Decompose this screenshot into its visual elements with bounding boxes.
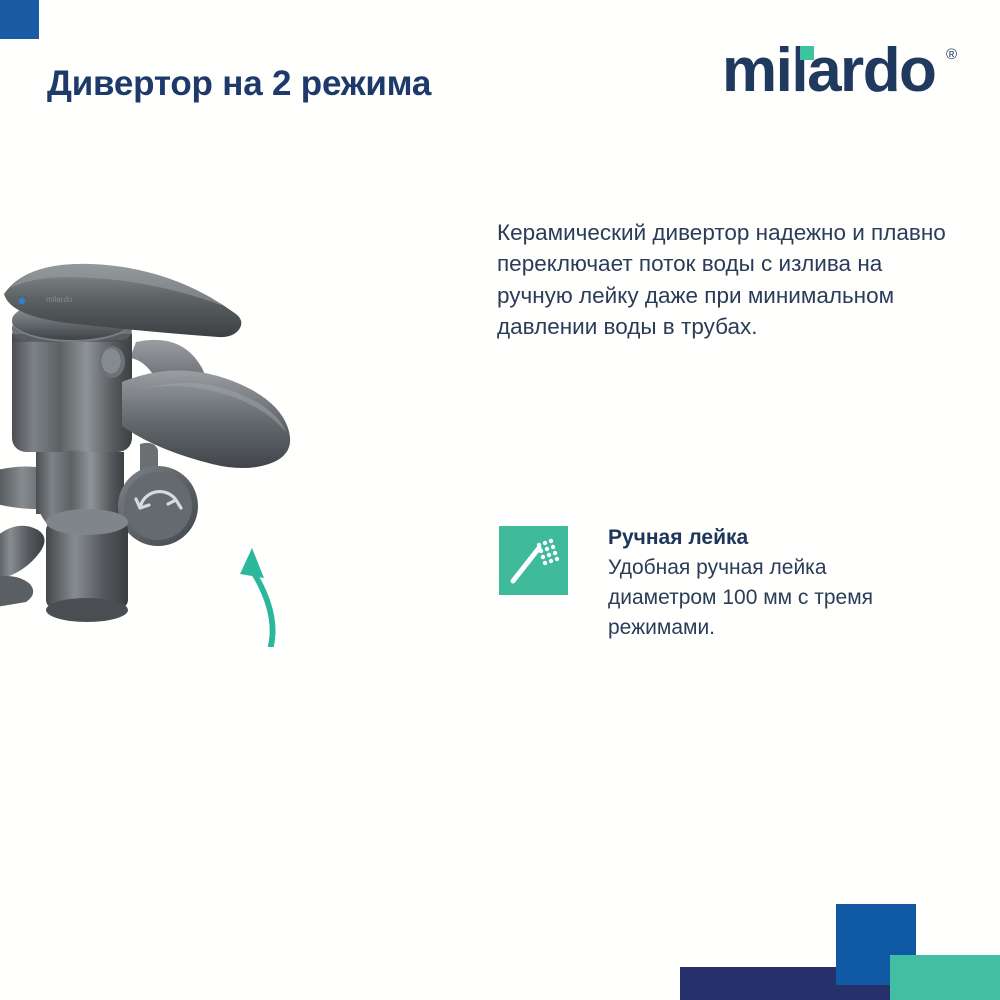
- brand-logo: milardo ®: [722, 40, 962, 102]
- feature-description: Удобная ручная лейка диаметром 100 мм с …: [608, 553, 918, 643]
- page-title: Дивертор на 2 режима: [47, 61, 447, 106]
- decorative-teal-square: [890, 955, 1000, 1000]
- bath-faucet-diverter-photo: milardo: [0, 222, 310, 647]
- brand-wordmark: milardo: [722, 40, 935, 102]
- registered-trademark-mark: ®: [946, 46, 957, 63]
- feature-text-block: Ручная лейка Удобная ручная лейка диамет…: [608, 524, 918, 643]
- marketing-slide: Дивертор на 2 режима milardo ® Керамичес…: [0, 0, 1000, 1000]
- logo-i-dot-icon: [800, 46, 814, 60]
- lead-paragraph: Керамический дивертор надежно и плавно п…: [497, 217, 947, 343]
- blue-corner-square: [0, 0, 39, 39]
- svg-text:milardo: milardo: [46, 295, 73, 304]
- feature-title: Ручная лейка: [608, 524, 918, 551]
- hand-shower-icon: [499, 526, 568, 595]
